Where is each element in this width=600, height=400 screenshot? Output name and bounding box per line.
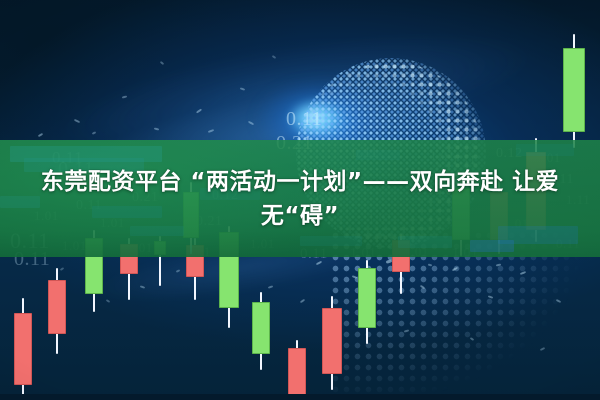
- candlestick-body: [14, 313, 32, 385]
- bottom-edge: [0, 394, 600, 400]
- page-title: 东莞配资平台 “两活动一计划”——双向奔赴 让爱无“碍”: [14, 165, 586, 233]
- candlestick-body: [48, 280, 66, 334]
- candlestick-body: [252, 302, 270, 354]
- candlestick-body: [563, 48, 585, 132]
- headline-container: 东莞配资平台 “两活动一计划”——双向奔赴 让爱无“碍”: [0, 140, 600, 257]
- candlestick-body: [288, 348, 306, 396]
- candlestick-body: [322, 308, 342, 374]
- candlestick-body: [358, 268, 376, 328]
- article-banner-image: 0.110.110.111.011.010.110.111.010.211.01…: [0, 0, 600, 400]
